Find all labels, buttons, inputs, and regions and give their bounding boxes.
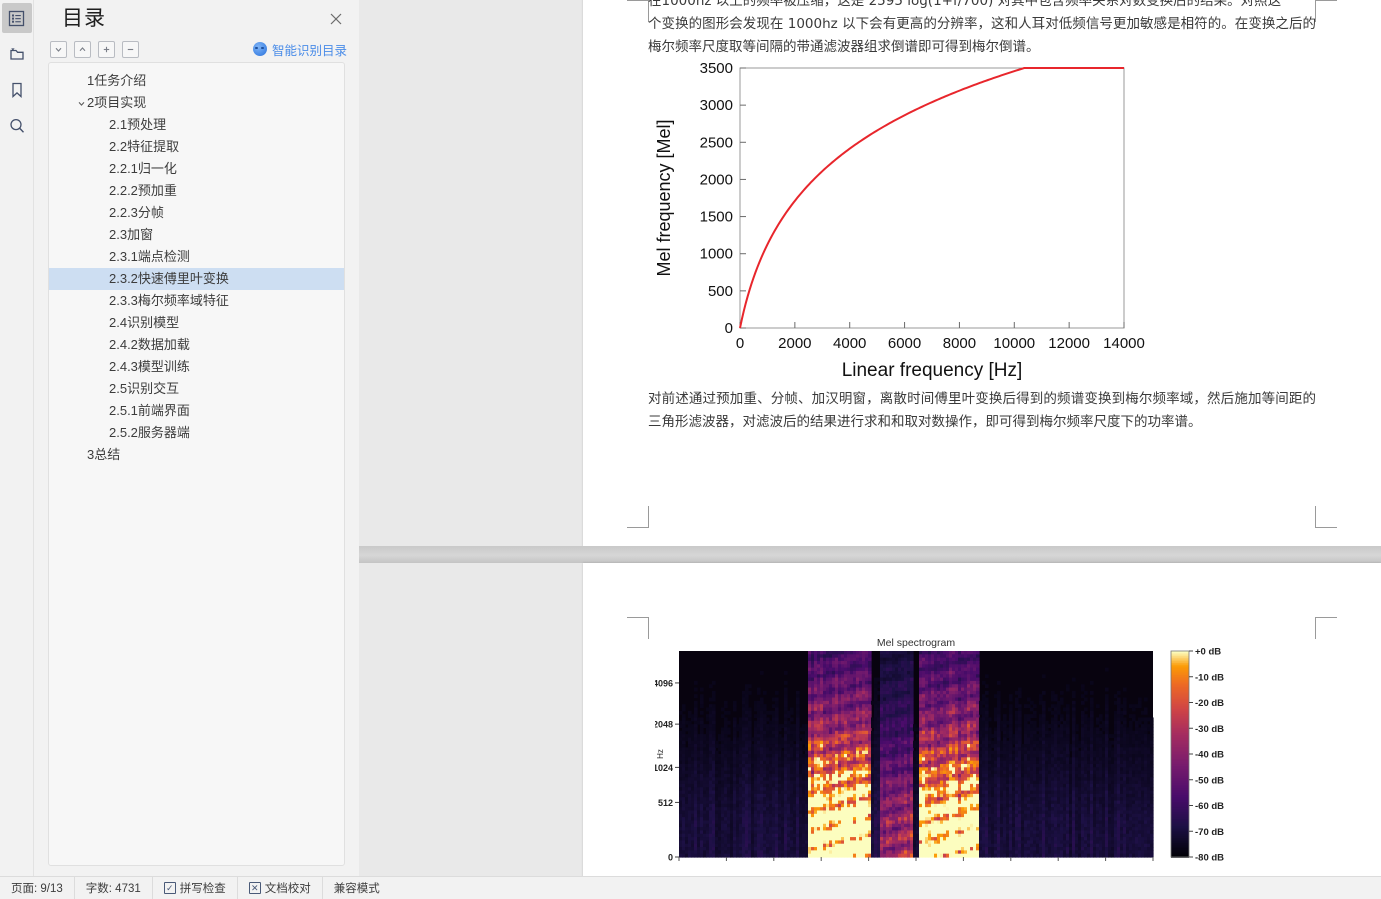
toc-item[interactable]: 2.2.3分帧	[49, 202, 344, 224]
ai-assistant-icon	[253, 42, 267, 56]
paragraph-clipped: 在1000hz 以上的频率被压缩，这是 2595 log(1+f/700) 对其…	[648, 0, 1316, 13]
toc-item[interactable]: 1任务介绍	[49, 70, 344, 92]
margin-mark-top-left	[627, 0, 649, 22]
status-proofread[interactable]: ✕ 文档校对	[238, 877, 323, 899]
page-separator	[359, 546, 1381, 563]
document-page-current: 在1000hz 以上的频率被压缩，这是 2595 log(1+f/700) 对其…	[583, 0, 1381, 550]
toc-item[interactable]: 2.4.2数据加载	[49, 334, 344, 356]
toc-item-label: 2.4.3模型训练	[109, 356, 190, 378]
toc-item-label: 2.4识别模型	[109, 312, 179, 334]
svg-text:Linear frequency [Hz]: Linear frequency [Hz]	[842, 360, 1023, 381]
svg-text:0: 0	[725, 320, 733, 337]
toc-item[interactable]: 2.5识别交互	[49, 378, 344, 400]
margin-mark-bottom-right	[1315, 506, 1337, 528]
catalog-icon	[8, 10, 25, 27]
chevron-up-icon	[78, 45, 87, 54]
toc-item-label: 2.3加窗	[109, 224, 153, 246]
mel-spectrogram-chart: Mel spectrogram0512102420484096Hz+0 dB-1…	[655, 635, 1295, 876]
margin-mark-top-right	[1315, 0, 1337, 22]
toc-item-label: 2.5.2服务器端	[109, 422, 190, 444]
rail-item-bookmark[interactable]	[2, 75, 32, 105]
decrease-level-button[interactable]	[122, 41, 139, 58]
page-title: 目录	[62, 4, 345, 34]
svg-text:8000: 8000	[943, 335, 976, 352]
toc-item[interactable]: 2.4.3模型训练	[49, 356, 344, 378]
toc-item-label: 2.3.3梅尔频率域特征	[109, 290, 229, 312]
svg-text:12000: 12000	[1048, 335, 1090, 352]
toc-item-label: 2.1预处理	[109, 114, 166, 136]
checkbox-check-icon: ✓	[164, 882, 176, 894]
document-page-next: Mel spectrogram0512102420484096Hz+0 dB-1…	[583, 563, 1381, 876]
svg-text:1000: 1000	[700, 246, 733, 263]
svg-text:6000: 6000	[888, 335, 921, 352]
svg-text:1500: 1500	[700, 209, 733, 226]
toc-item[interactable]: 2.3加窗	[49, 224, 344, 246]
minus-icon	[126, 45, 135, 54]
mel-scale-chart: 0500100015002000250030003500020004000600…	[648, 54, 1148, 384]
toc-item-label: 2.2特征提取	[109, 136, 179, 158]
toc-item-label: 2.2.1归一化	[109, 158, 177, 180]
close-icon[interactable]	[327, 10, 345, 28]
svg-text:2000: 2000	[700, 171, 733, 188]
margin-mark-bottom-left	[627, 506, 649, 528]
toc-header: 目录	[34, 0, 359, 36]
status-compat-mode-label: 兼容模式	[334, 880, 380, 896]
status-spellcheck-label: 拼写检查	[180, 880, 226, 896]
status-spellcheck[interactable]: ✓ 拼写检查	[153, 877, 238, 899]
svg-text:14000: 14000	[1103, 335, 1145, 352]
status-proofread-label: 文档校对	[265, 880, 311, 896]
svg-text:10000: 10000	[993, 335, 1035, 352]
bookmark-icon	[8, 81, 26, 99]
toc-toolbar: 智能识别目录	[34, 36, 359, 62]
figure-mel-scale-curve: 0500100015002000250030003500020004000600…	[648, 54, 1148, 384]
toc-item-label: 2.3.2快速傅里叶变换	[109, 268, 229, 290]
toc-item-label: 2.5识别交互	[109, 378, 179, 400]
rail-item-catalog[interactable]	[2, 3, 32, 33]
svg-text:3000: 3000	[700, 97, 733, 114]
chevron-down-icon[interactable]	[75, 92, 87, 114]
toc-panel: 目录	[34, 0, 359, 876]
svg-text:2000: 2000	[778, 335, 811, 352]
left-icon-rail	[0, 0, 34, 876]
smart-recognize-toc-label: 智能识别目录	[272, 40, 347, 59]
rail-item-annotation[interactable]	[2, 39, 32, 69]
status-compat-mode[interactable]: 兼容模式	[323, 877, 391, 899]
status-page-label: 页面: 9/13	[11, 880, 63, 896]
toc-item[interactable]: 2.3.2快速傅里叶变换	[49, 268, 344, 290]
paragraph-top: 个变换的图形会发现在 1000hz 以下会有更高的分辨率，这和人耳对低频信号更加…	[648, 13, 1316, 59]
margin-mark-top-right	[1315, 617, 1337, 639]
chevron-down-icon	[54, 45, 63, 54]
rail-item-search[interactable]	[2, 111, 32, 141]
checkbox-cross-icon: ✕	[249, 882, 261, 894]
expand-all-button[interactable]	[74, 41, 91, 58]
svg-text:0: 0	[736, 335, 744, 352]
paragraph-bottom: 对前述通过预加重、分帧、加汉明窗，离散时间傅里叶变换后得到的频谱变换到梅尔频率域…	[648, 388, 1316, 434]
svg-text:2500: 2500	[700, 134, 733, 151]
status-word-count-label: 字数: 4731	[86, 880, 141, 896]
collapse-all-button[interactable]	[50, 41, 67, 58]
plus-icon	[102, 45, 111, 54]
toc-item[interactable]: 2.2.2预加重	[49, 180, 344, 202]
toc-item[interactable]: 2.5.2服务器端	[49, 422, 344, 444]
toc-item[interactable]: 2.2特征提取	[49, 136, 344, 158]
search-icon	[8, 117, 26, 135]
app-root: 目录	[0, 0, 1381, 899]
margin-mark-top-left	[627, 617, 649, 639]
smart-recognize-toc-button[interactable]: 智能识别目录	[253, 40, 347, 59]
svg-text:4000: 4000	[833, 335, 866, 352]
toc-item-label: 2.2.3分帧	[109, 202, 164, 224]
toc-item[interactable]: 3总结	[49, 444, 344, 466]
toc-item[interactable]: 2.3.3梅尔频率域特征	[49, 290, 344, 312]
toc-item[interactable]: 2项目实现	[49, 92, 344, 114]
svg-text:Mel spectrogram: Mel spectrogram	[877, 637, 955, 649]
toc-item[interactable]: 2.3.1端点检测	[49, 246, 344, 268]
toc-item-label: 3总结	[87, 444, 120, 466]
document-canvas[interactable]: 在1000hz 以上的频率被压缩，这是 2595 log(1+f/700) 对其…	[359, 0, 1381, 876]
toc-item[interactable]: 2.5.1前端界面	[49, 400, 344, 422]
toc-item-label: 2.2.2预加重	[109, 180, 177, 202]
toc-item-label: 2.4.2数据加载	[109, 334, 190, 356]
toc-list[interactable]: 1任务介绍2项目实现2.1预处理2.2特征提取2.2.1归一化2.2.2预加重2…	[48, 62, 345, 866]
svg-text:Mel frequency [Mel]: Mel frequency [Mel]	[654, 119, 674, 276]
toc-item[interactable]: 2.4识别模型	[49, 312, 344, 334]
status-word-count[interactable]: 字数: 4731	[75, 877, 153, 899]
toc-item[interactable]: 2.2.1归一化	[49, 158, 344, 180]
annotation-folder-icon	[8, 45, 26, 63]
figure-mel-spectrogram: Mel spectrogram0512102420484096Hz+0 dB-1…	[655, 635, 1295, 876]
svg-text:3500: 3500	[700, 60, 733, 77]
svg-text:500: 500	[708, 283, 733, 300]
status-page-indicator[interactable]: 页面: 9/13	[0, 877, 75, 899]
toc-item-label: 2.5.1前端界面	[109, 400, 190, 422]
toc-item-label: 1任务介绍	[87, 70, 146, 92]
toc-item-label: 2项目实现	[87, 92, 146, 114]
increase-level-button[interactable]	[98, 41, 115, 58]
status-bar: 页面: 9/13 字数: 4731 ✓ 拼写检查 ✕ 文档校对 兼容模式	[0, 876, 1381, 899]
toc-item-label: 2.3.1端点检测	[109, 246, 190, 268]
toc-item[interactable]: 2.1预处理	[49, 114, 344, 136]
